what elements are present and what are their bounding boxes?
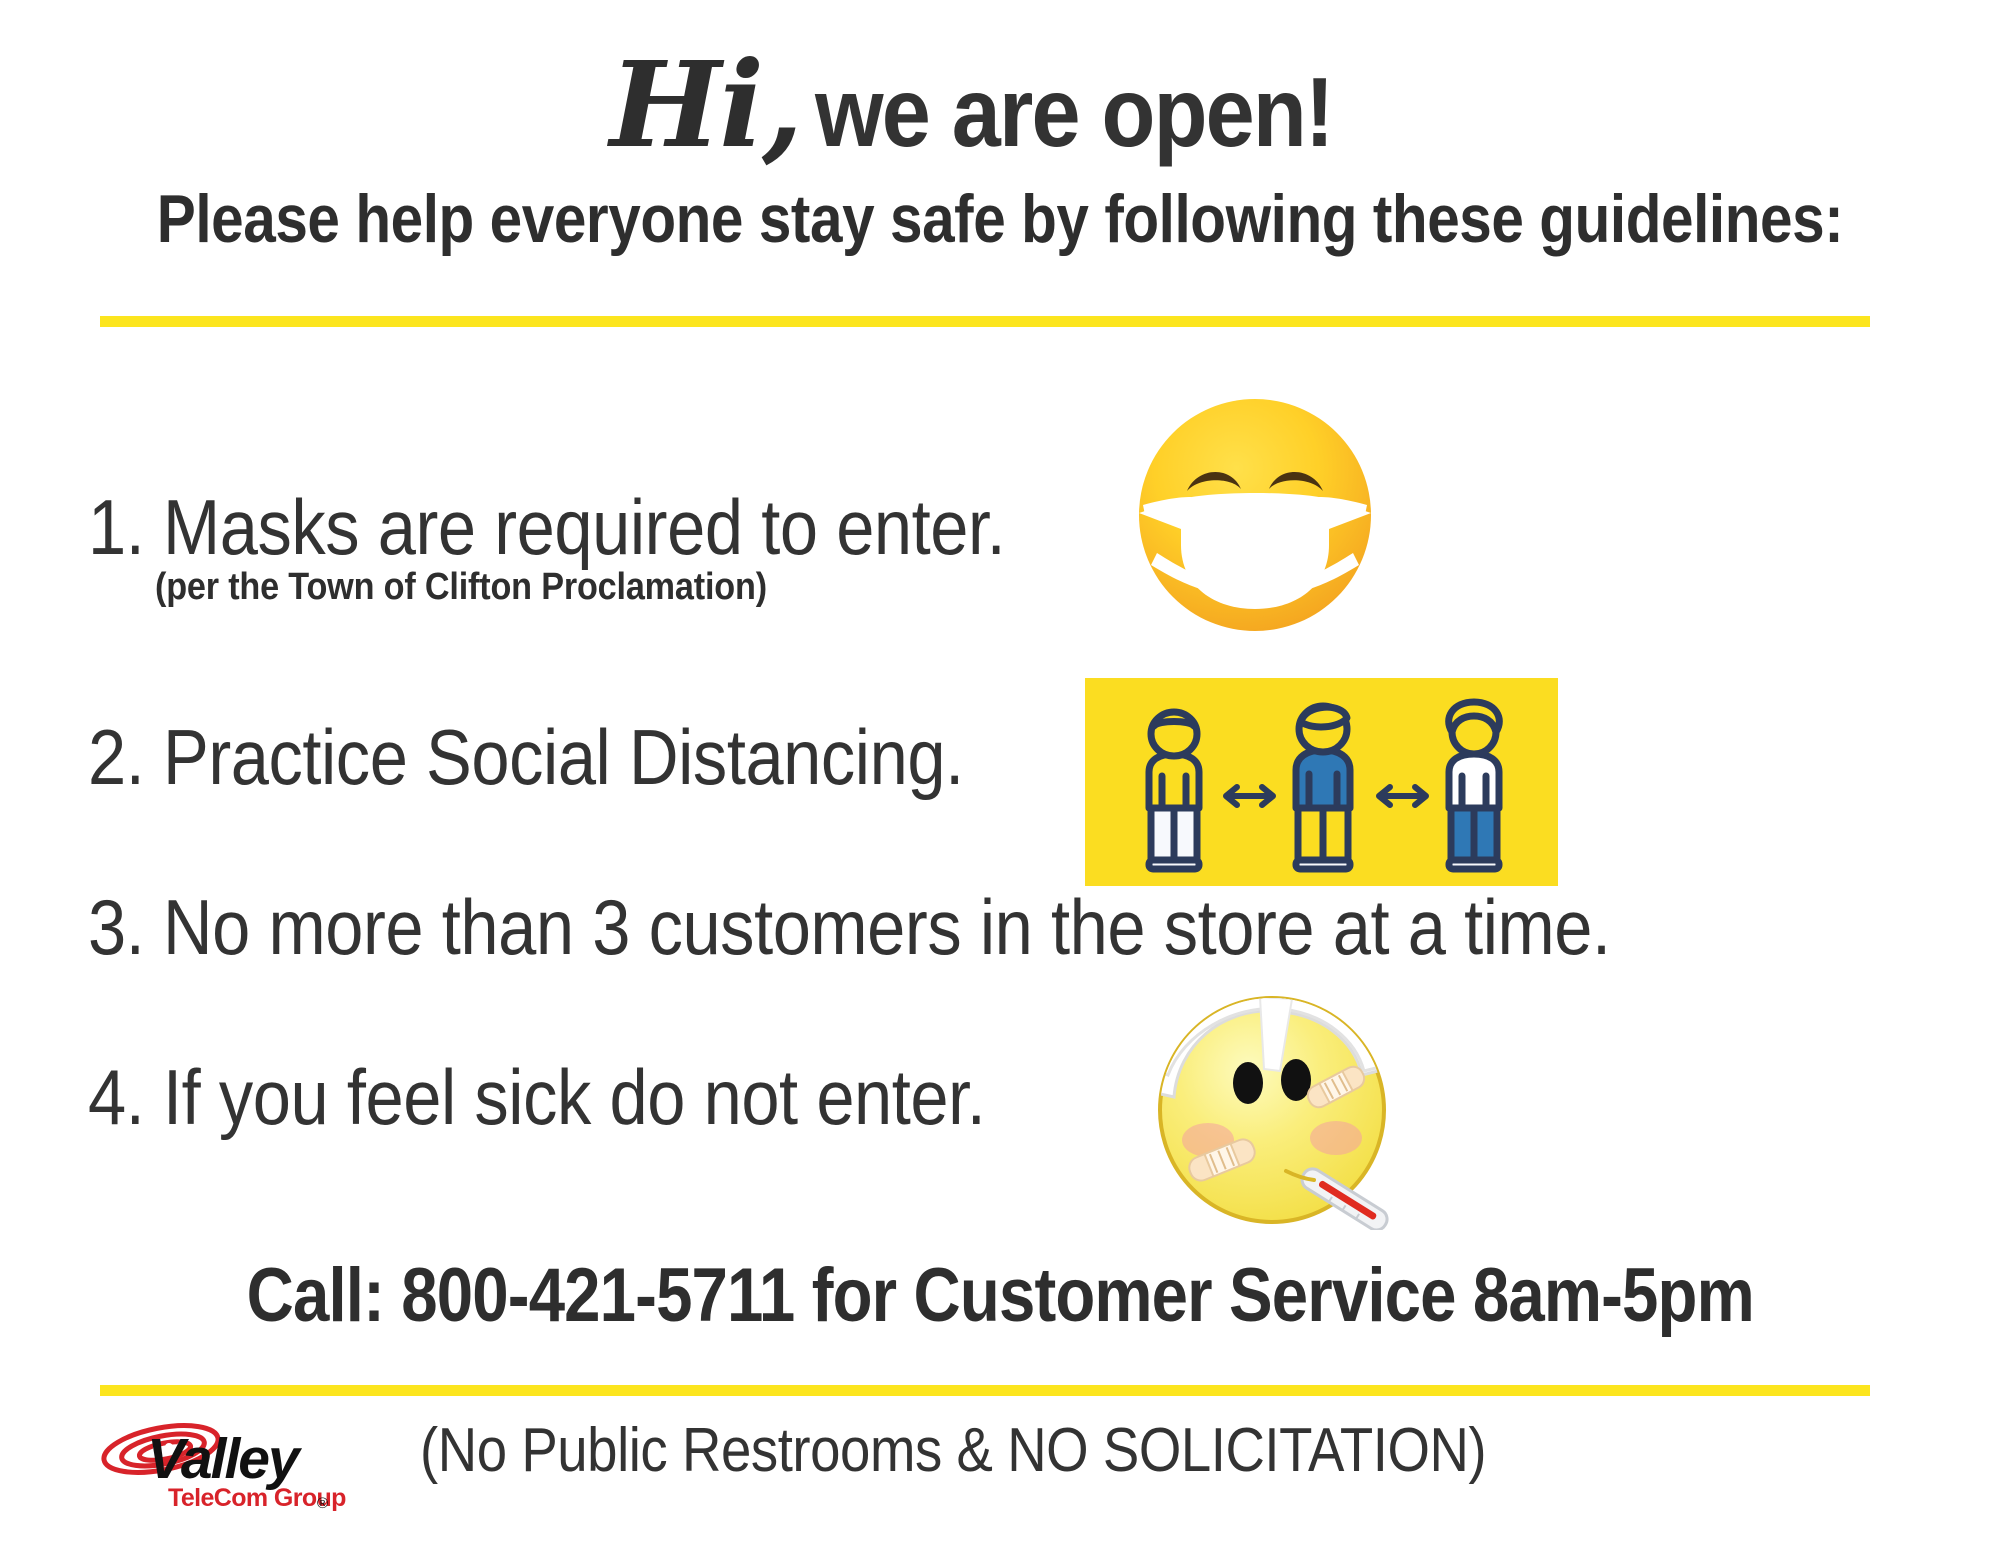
guideline-item-3: 3. No more than 3 customers in the store… [88, 882, 1611, 973]
page-title: Hi,we are open! [0, 46, 2000, 164]
divider-top [100, 316, 1870, 327]
title-bold-word: we are open! [815, 63, 1333, 161]
logo-wordmark: Valley [147, 1431, 298, 1488]
three-figures-spaced-icon [1085, 678, 1558, 886]
guideline-1-subnote: (per the Town of Clifton Proclamation) [155, 566, 767, 609]
guideline-item-1: 1. Masks are required to enter. [88, 482, 1005, 573]
social-distancing-graphic [1085, 678, 1558, 886]
face-with-medical-mask-icon [1135, 395, 1375, 635]
open-sign-poster: Hi,we are open! Please help everyone sta… [0, 0, 2000, 1551]
face-with-head-bandage-icon [1140, 975, 1405, 1230]
logo-registered-mark: ® [317, 1495, 328, 1512]
page-subtitle: Please help everyone stay safe by follow… [140, 180, 1860, 258]
title-script-word: Hi, [610, 35, 801, 174]
guideline-item-4: 4. If you feel sick do not enter. [88, 1052, 985, 1143]
poster-header: Hi,we are open! Please help everyone sta… [0, 46, 2000, 258]
call-to-action: Call: 800-421-5711 for Customer Service … [0, 1252, 2000, 1339]
guideline-item-2: 2. Practice Social Distancing. [88, 712, 964, 803]
call-to-action-text: Call: 800-421-5711 for Customer Service … [246, 1252, 1753, 1339]
divider-bottom [100, 1385, 1870, 1396]
valley-telecom-logo: Valley TeleCom Group ® [95, 1415, 335, 1520]
footer-note: (No Public Restrooms & NO SOLICITATION) [420, 1415, 1486, 1486]
